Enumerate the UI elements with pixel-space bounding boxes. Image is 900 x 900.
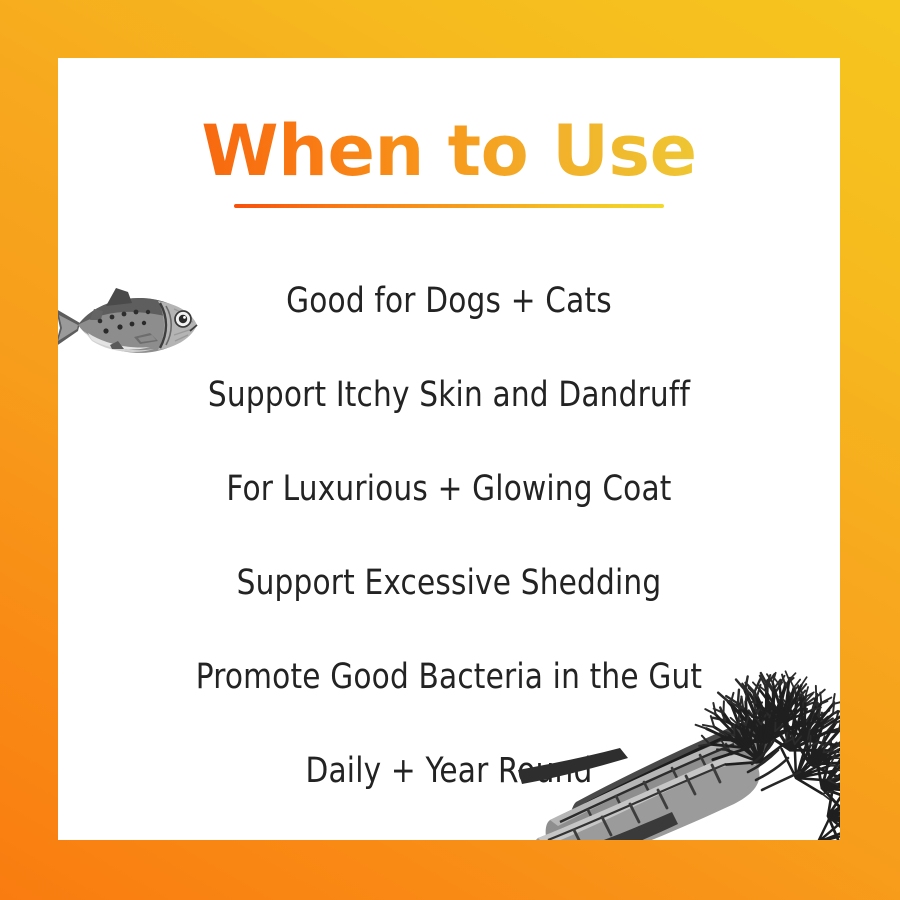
title-block: When to Use [58,116,840,208]
list-item: Good for Dogs + Cats [81,254,816,348]
poster-canvas: When to Use Good for Dogs + Cats Support… [0,0,900,900]
list-item: Promote Good Bacteria in the Gut [81,630,816,724]
list-item: Support Itchy Skin and Dandruff [81,348,816,442]
list-item: For Luxurious + Glowing Coat [81,442,816,536]
list-item: Daily + Year Round [81,724,816,818]
benefits-list: Good for Dogs + Cats Support Itchy Skin … [58,254,840,818]
page-title: When to Use [201,116,696,186]
list-item: Support Excessive Shedding [81,536,816,630]
title-underline-divider [234,204,664,208]
content-card: When to Use Good for Dogs + Cats Support… [58,58,840,840]
